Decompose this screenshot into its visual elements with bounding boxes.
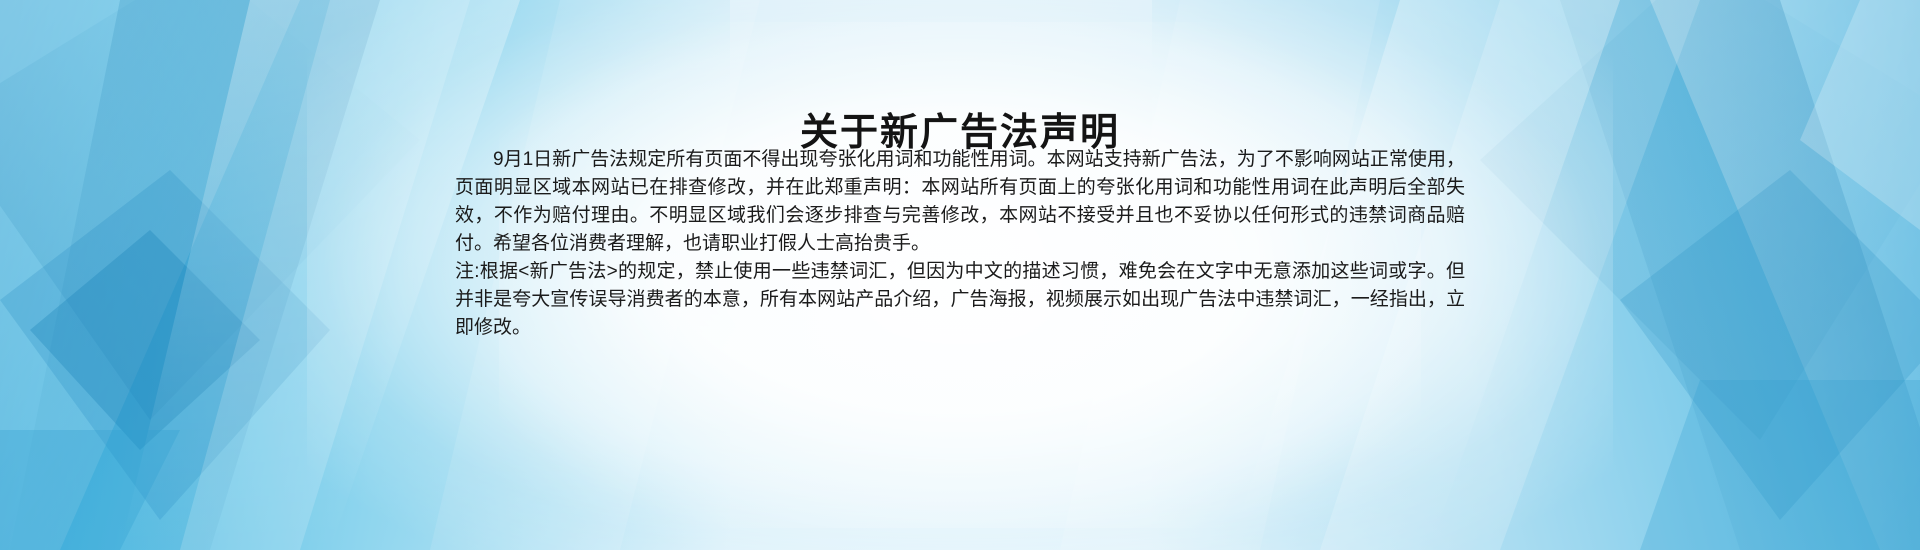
statement-text-block: 9月1日新广告法规定所有页面不得出现夸张化用词和功能性用词。本网站支持新广告法，…	[455, 146, 1465, 342]
statement-paragraph-note: 注:根据<新广告法>的规定，禁止使用一些违禁词汇，但因为中文的描述习惯，难免会在…	[455, 258, 1465, 342]
statement-content: 关于新广告法声明 9月1日新广告法规定所有页面不得出现夸张化用词和功能性用词。本…	[455, 0, 1465, 550]
advertising-law-statement-banner: 关于新广告法声明 9月1日新广告法规定所有页面不得出现夸张化用词和功能性用词。本…	[0, 0, 1920, 550]
statement-paragraph-body: 9月1日新广告法规定所有页面不得出现夸张化用词和功能性用词。本网站支持新广告法，…	[455, 146, 1465, 258]
